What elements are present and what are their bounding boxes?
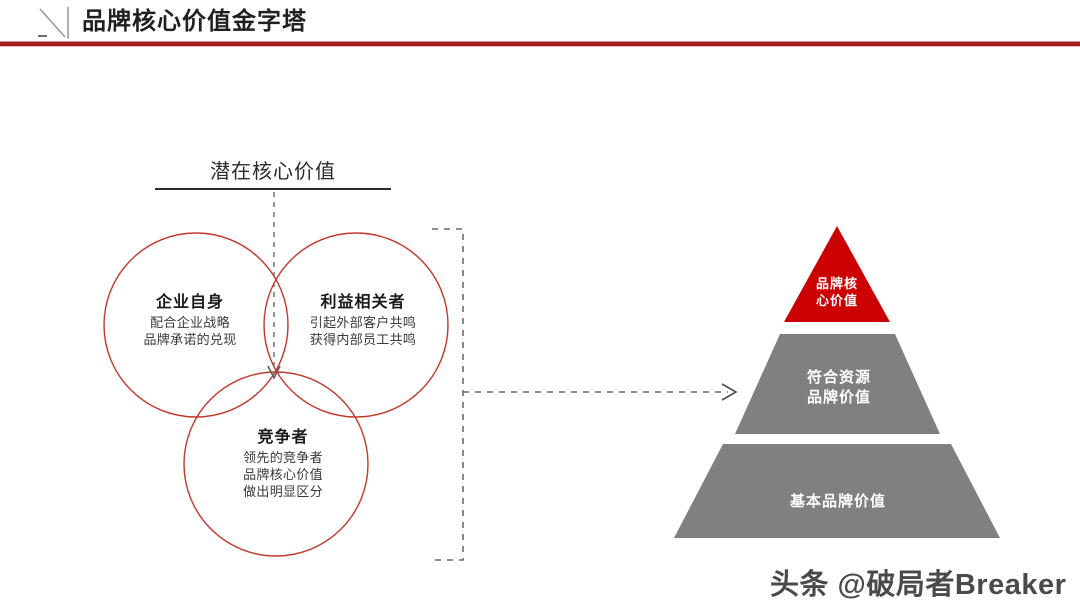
venn-label-company-line-2: 品牌承诺的兑现 — [115, 332, 265, 349]
pyramid-label-middle-line-2: 品牌价值 — [760, 388, 918, 408]
potential-core-value-label: 潜在核心价值 — [155, 155, 391, 184]
venn-label-stakeholder-line-1: 引起外部客户共鸣 — [283, 315, 443, 332]
venn-label-stakeholder-line-2: 获得内部员工共鸣 — [283, 332, 443, 349]
pyramid-label-top-line-1: 品牌核 — [785, 275, 889, 292]
dashed-group-bracket — [432, 229, 463, 560]
venn-label-company-line-1: 配合企业战略 — [115, 315, 265, 332]
venn-label-stakeholder: 利益相关者 引起外部客户共鸣 获得内部员工共鸣 — [283, 293, 443, 349]
venn-label-competitor-title: 竞争者 — [203, 428, 363, 448]
venn-label-stakeholder-title: 利益相关者 — [283, 293, 443, 313]
pyramid-label-top-line-2: 心价值 — [785, 292, 889, 309]
venn-label-company: 企业自身 配合企业战略 品牌承诺的兑现 — [115, 293, 265, 349]
header-divider — [0, 41, 1080, 47]
potential-core-value-underline — [155, 188, 391, 190]
pyramid-label-bottom-line-1: 基本品牌价值 — [740, 492, 936, 512]
pyramid-label-middle-line-1: 符合资源 — [760, 368, 918, 388]
watermark: 头条 @破局者Breaker — [770, 561, 1066, 603]
pyramid-label-middle: 符合资源 品牌价值 — [760, 368, 918, 408]
dashed-drop-arrowhead — [268, 366, 280, 378]
venn-label-competitor-line-2: 品牌核心价值 — [203, 467, 363, 484]
venn-label-competitor: 竞争者 领先的竞争者 品牌核心价值 做出明显区分 — [203, 428, 363, 500]
pyramid-level-bottom — [674, 444, 1000, 538]
pyramid-label-top: 品牌核 心价值 — [785, 275, 889, 309]
pyramid-label-bottom: 基本品牌价值 — [740, 492, 936, 512]
diagonal-arrow-icon — [38, 7, 74, 41]
venn-label-competitor-line-3: 做出明显区分 — [203, 484, 363, 501]
venn-label-company-title: 企业自身 — [115, 293, 265, 313]
page-title: 品牌核心价值金字塔 — [82, 7, 307, 37]
slide-canvas: 品牌核心价值金字塔 潜在核心价值 企业自身 配合企业战略 品牌承诺的兑现 利益相… — [0, 0, 1080, 608]
venn-label-competitor-line-1: 领先的竞争者 — [203, 450, 363, 467]
dashed-flow-arrowhead — [722, 384, 736, 400]
